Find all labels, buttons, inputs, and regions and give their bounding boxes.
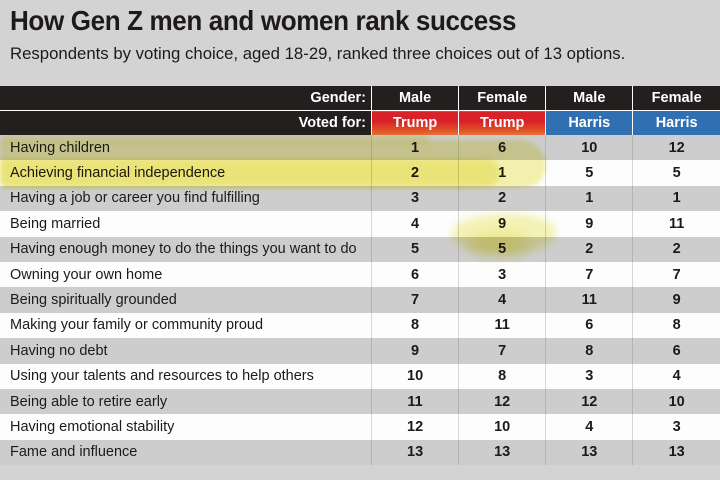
cell-male-trump: 11 bbox=[372, 389, 459, 414]
cell-male-trump: 1 bbox=[372, 135, 459, 160]
row-label: Having enough money to do the things you… bbox=[0, 237, 372, 262]
cell-female-trump: 12 bbox=[459, 389, 546, 414]
table-row: Being able to retire early 11 12 12 10 bbox=[0, 389, 720, 414]
cell-male-harris: 6 bbox=[546, 313, 633, 338]
table-row: Having emotional stability 12 10 4 3 bbox=[0, 414, 720, 439]
cell-male-trump: 9 bbox=[372, 338, 459, 363]
cell-female-harris: 2 bbox=[633, 237, 720, 262]
header-party-harris-female: Harris bbox=[633, 111, 720, 136]
infographic-root: How Gen Z men and women rank success Res… bbox=[0, 0, 720, 480]
cell-female-trump: 7 bbox=[459, 338, 546, 363]
cell-female-trump: 5 bbox=[459, 237, 546, 262]
row-label: Owning your own home bbox=[0, 262, 372, 287]
cell-male-trump: 13 bbox=[372, 440, 459, 465]
header-gender-female-harris: Female bbox=[633, 86, 720, 111]
table-row: Having children 1 6 10 12 bbox=[0, 135, 720, 160]
cell-female-harris: 1 bbox=[633, 186, 720, 211]
table-row: Fame and influence 13 13 13 13 bbox=[0, 440, 720, 465]
cell-male-trump: 2 bbox=[372, 160, 459, 185]
cell-female-harris: 12 bbox=[633, 135, 720, 160]
header-gender-label: Gender: bbox=[0, 86, 372, 111]
rank-table-body: Having children 1 6 10 12 Achieving fina… bbox=[0, 135, 720, 465]
cell-female-trump: 10 bbox=[459, 414, 546, 439]
table-row: Being spiritually grounded 7 4 11 9 bbox=[0, 287, 720, 312]
title-block: How Gen Z men and women rank success Res… bbox=[0, 0, 720, 65]
row-label: Achieving financial independence bbox=[0, 160, 372, 185]
cell-female-trump: 11 bbox=[459, 313, 546, 338]
cell-female-trump: 6 bbox=[459, 135, 546, 160]
table-row: Having a job or career you find fulfilli… bbox=[0, 186, 720, 211]
header-gender-male-harris: Male bbox=[546, 86, 633, 111]
cell-male-trump: 5 bbox=[372, 237, 459, 262]
cell-female-harris: 11 bbox=[633, 211, 720, 236]
row-label: Making your family or community proud bbox=[0, 313, 372, 338]
header-voted-label: Voted for: bbox=[0, 111, 372, 136]
header-gender-female-trump: Female bbox=[459, 86, 546, 111]
row-label: Being married bbox=[0, 211, 372, 236]
cell-female-harris: 9 bbox=[633, 287, 720, 312]
cell-male-trump: 8 bbox=[372, 313, 459, 338]
cell-male-trump: 12 bbox=[372, 414, 459, 439]
cell-female-harris: 10 bbox=[633, 389, 720, 414]
row-label: Having a job or career you find fulfilli… bbox=[0, 186, 372, 211]
header-row-gender: Gender: Male Female Male Female bbox=[0, 86, 720, 111]
header-gender-male-trump: Male bbox=[372, 86, 459, 111]
cell-male-harris: 3 bbox=[546, 364, 633, 389]
cell-male-harris: 8 bbox=[546, 338, 633, 363]
header-row-voted: Voted for: Trump Trump Harris Harris bbox=[0, 111, 720, 136]
row-label: Fame and influence bbox=[0, 440, 372, 465]
table-row: Having no debt 9 7 8 6 bbox=[0, 338, 720, 363]
page-subtitle: Respondents by voting choice, aged 18-29… bbox=[10, 43, 700, 65]
header-party-harris-male: Harris bbox=[546, 111, 633, 136]
rank-table-wrap: Gender: Male Female Male Female Voted fo… bbox=[0, 86, 720, 480]
table-row: Achieving financial independence 2 1 5 5 bbox=[0, 160, 720, 185]
cell-female-trump: 3 bbox=[459, 262, 546, 287]
header-party-trump-male: Trump bbox=[372, 111, 459, 136]
row-label: Having no debt bbox=[0, 338, 372, 363]
page-title: How Gen Z men and women rank success bbox=[10, 5, 661, 37]
rank-table: Gender: Male Female Male Female Voted fo… bbox=[0, 86, 720, 465]
cell-female-trump: 8 bbox=[459, 364, 546, 389]
cell-female-trump: 1 bbox=[459, 160, 546, 185]
cell-male-harris: 12 bbox=[546, 389, 633, 414]
cell-male-trump: 4 bbox=[372, 211, 459, 236]
cell-male-harris: 9 bbox=[546, 211, 633, 236]
header-party-trump-female: Trump bbox=[459, 111, 546, 136]
cell-male-trump: 3 bbox=[372, 186, 459, 211]
table-row: Making your family or community proud 8 … bbox=[0, 313, 720, 338]
cell-male-harris: 5 bbox=[546, 160, 633, 185]
cell-male-trump: 6 bbox=[372, 262, 459, 287]
cell-female-harris: 4 bbox=[633, 364, 720, 389]
cell-female-harris: 6 bbox=[633, 338, 720, 363]
row-label: Being able to retire early bbox=[0, 389, 372, 414]
cell-female-trump: 2 bbox=[459, 186, 546, 211]
cell-female-harris: 5 bbox=[633, 160, 720, 185]
cell-male-trump: 10 bbox=[372, 364, 459, 389]
row-label: Having children bbox=[0, 135, 372, 160]
cell-male-harris: 1 bbox=[546, 186, 633, 211]
table-row: Owning your own home 6 3 7 7 bbox=[0, 262, 720, 287]
cell-female-trump: 4 bbox=[459, 287, 546, 312]
cell-male-harris: 7 bbox=[546, 262, 633, 287]
cell-male-harris: 11 bbox=[546, 287, 633, 312]
cell-female-harris: 3 bbox=[633, 414, 720, 439]
table-row: Having enough money to do the things you… bbox=[0, 237, 720, 262]
row-label: Being spiritually grounded bbox=[0, 287, 372, 312]
cell-male-harris: 4 bbox=[546, 414, 633, 439]
cell-male-harris: 2 bbox=[546, 237, 633, 262]
row-label: Having emotional stability bbox=[0, 414, 372, 439]
cell-female-harris: 8 bbox=[633, 313, 720, 338]
cell-male-trump: 7 bbox=[372, 287, 459, 312]
table-row: Being married 4 9 9 11 bbox=[0, 211, 720, 236]
cell-male-harris: 10 bbox=[546, 135, 633, 160]
cell-female-harris: 13 bbox=[633, 440, 720, 465]
table-row: Using your talents and resources to help… bbox=[0, 364, 720, 389]
row-label: Using your talents and resources to help… bbox=[0, 364, 372, 389]
cell-female-trump: 9 bbox=[459, 211, 546, 236]
cell-male-harris: 13 bbox=[546, 440, 633, 465]
cell-female-trump: 13 bbox=[459, 440, 546, 465]
cell-female-harris: 7 bbox=[633, 262, 720, 287]
